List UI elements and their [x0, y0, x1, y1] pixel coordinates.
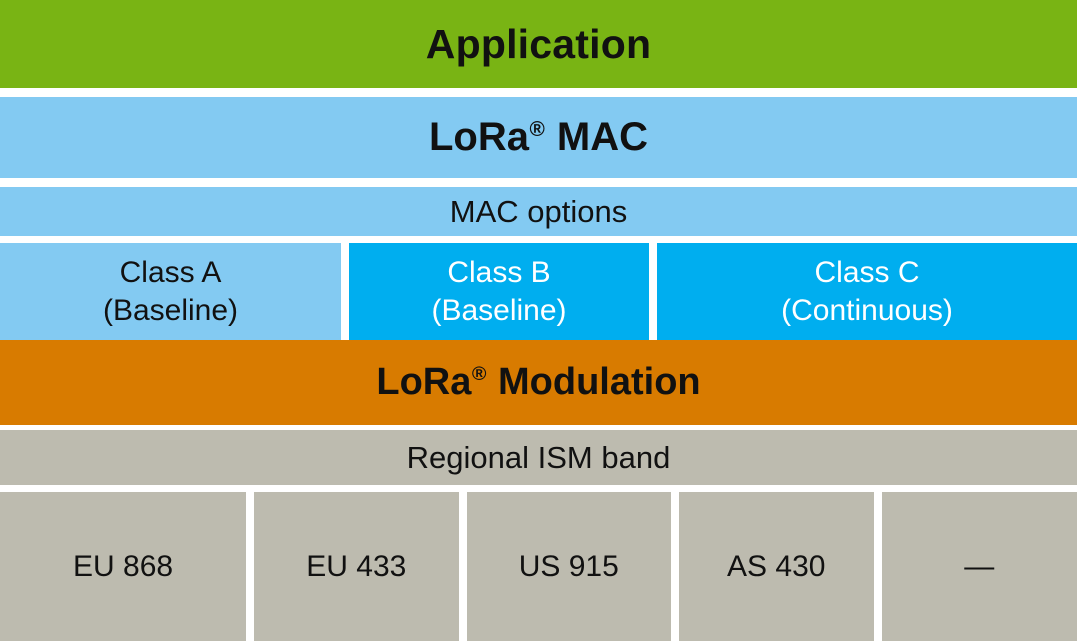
layer-lora-mac-label: LoRa® MAC: [429, 116, 648, 159]
layer-regional-ism-band-label: Regional ISM band: [407, 441, 671, 474]
band-divider: [671, 492, 679, 641]
device-class-b-name: Class B: [447, 254, 550, 292]
band-box-eu-433: EU 433: [254, 492, 458, 641]
layer-lora-modulation-label: LoRa® Modulation: [376, 362, 700, 403]
layer-divider: [0, 178, 1077, 187]
layer-application-label: Application: [426, 22, 651, 66]
layer-divider: [0, 236, 1077, 243]
layer-lora-modulation: LoRa® Modulation: [0, 340, 1077, 425]
device-class-b: Class B (Baseline): [349, 243, 649, 340]
layer-mac-options-label: MAC options: [450, 195, 627, 228]
band-divider: [246, 492, 254, 641]
band-label: AS 430: [727, 550, 825, 584]
registered-trademark-icon: ®: [472, 363, 487, 385]
registered-trademark-icon: ®: [529, 118, 544, 141]
band-divider: [874, 492, 882, 641]
band-label: —: [964, 550, 994, 584]
device-class-b-mode: (Baseline): [431, 292, 566, 330]
band-divider: [459, 492, 467, 641]
layer-divider: [0, 485, 1077, 492]
band-label: EU 433: [306, 550, 406, 584]
layer-regional-ism-band: Regional ISM band: [0, 430, 1077, 485]
band-box-as-430: AS 430: [679, 492, 874, 641]
class-divider: [341, 243, 349, 340]
device-class-a: Class A (Baseline): [0, 243, 341, 340]
device-class-c: Class C (Continuous): [657, 243, 1077, 340]
device-class-c-name: Class C: [814, 254, 919, 292]
layer-lora-mac: LoRa® MAC: [0, 97, 1077, 178]
layer-lora-mac-label-prefix: LoRa: [429, 115, 529, 159]
band-box-eu-868: EU 868: [0, 492, 246, 641]
layer-mac-options: MAC options: [0, 187, 1077, 236]
band-box-us-915: US 915: [467, 492, 671, 641]
band-label: US 915: [519, 550, 619, 584]
regional-band-row: EU 868 EU 433 US 915 AS 430 —: [0, 492, 1077, 641]
device-class-a-name: Class A: [120, 254, 222, 292]
device-class-c-mode: (Continuous): [781, 292, 953, 330]
layer-lora-mac-label-suffix: MAC: [546, 115, 648, 159]
protocol-stack-diagram: Application LoRa® MAC MAC options Class …: [0, 0, 1077, 641]
device-class-a-mode: (Baseline): [103, 292, 238, 330]
class-divider: [649, 243, 657, 340]
layer-lora-modulation-label-suffix: Modulation: [487, 361, 700, 403]
band-box-placeholder: —: [882, 492, 1077, 641]
layer-lora-modulation-label-prefix: LoRa: [376, 361, 471, 403]
layer-application: Application: [0, 0, 1077, 88]
layer-divider: [0, 88, 1077, 97]
device-class-row: Class A (Baseline) Class B (Baseline) Cl…: [0, 243, 1077, 340]
band-label: EU 868: [73, 550, 173, 584]
